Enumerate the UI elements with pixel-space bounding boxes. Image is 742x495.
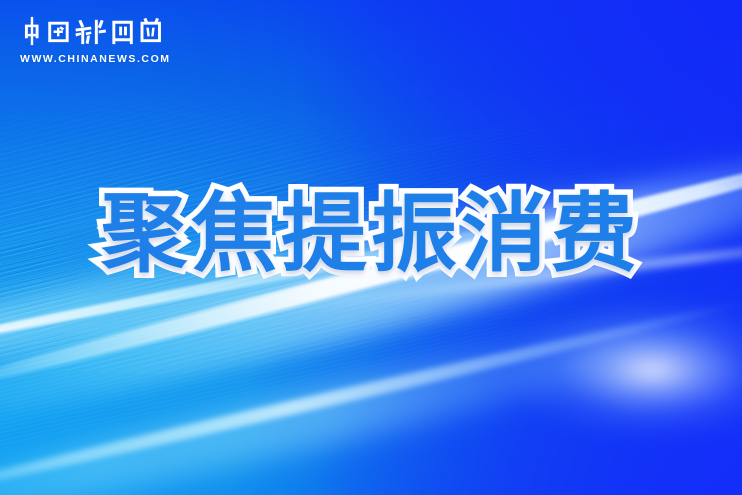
chinanews-banner: WWW.CHINANEWS.COM 聚焦提振消费 [0, 0, 742, 495]
site-logo[interactable]: WWW.CHINANEWS.COM [16, 14, 171, 65]
chinanews-wordmark-icon [16, 14, 166, 48]
site-url-text: WWW.CHINANEWS.COM [20, 53, 171, 65]
